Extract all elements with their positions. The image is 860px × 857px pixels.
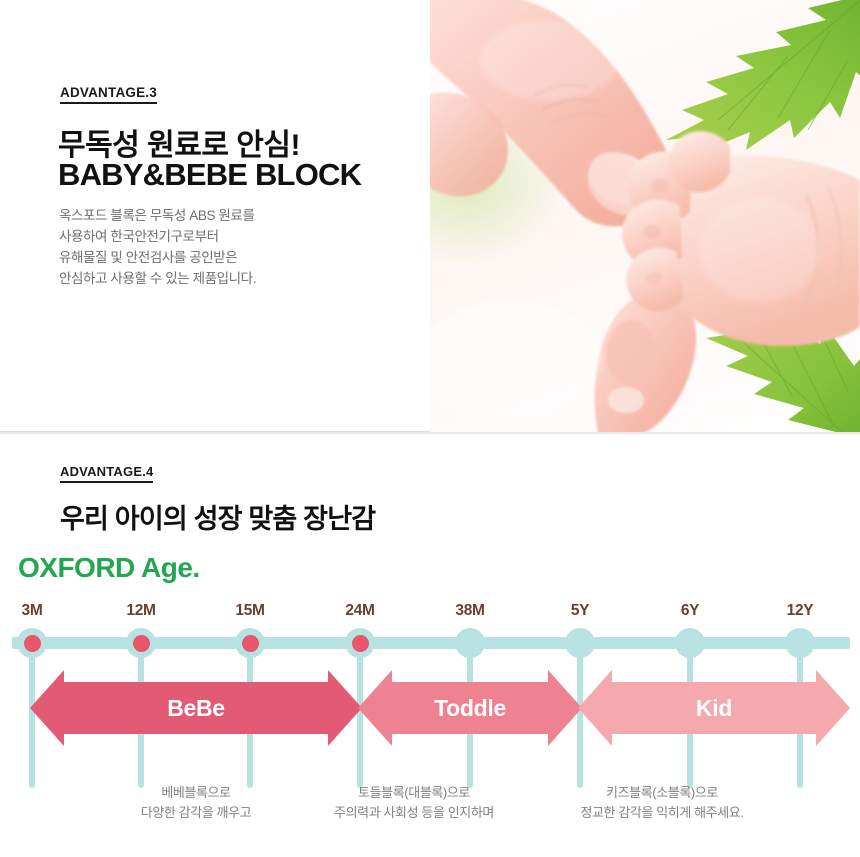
age-timeline: BeBeToddleKid3M12M15M24M38M5Y6Y12Y베베블록으로… <box>0 434 860 857</box>
stage-arrow-label: Toddle <box>358 670 582 746</box>
advantage-3-body-line-2: 사용하여 한국안전기구로부터 <box>59 226 256 247</box>
advantage-3-heading-line2: BABY&BEBE BLOCK <box>58 157 361 193</box>
advantage-3-body: 옥스포드 블록은 무독성 ABS 원료를 사용하여 한국안전기구로부터 유해물질… <box>59 205 256 289</box>
timeline-dot-15m[interactable] <box>235 628 265 658</box>
advantage-3-text-panel: ADVANTAGE.3 무독성 원료로 안심! BABY&BEBE BLOCK … <box>0 0 430 432</box>
advantage-3-body-line-1: 옥스포드 블록은 무독성 ABS 원료를 <box>59 205 256 226</box>
promo-page: ADVANTAGE.3 무독성 원료로 안심! BABY&BEBE BLOCK … <box>0 0 860 857</box>
age-label-3m: 3M <box>22 602 43 620</box>
timeline-dot-6y[interactable] <box>675 628 705 658</box>
stage-arrow-label: BeBe <box>30 670 362 746</box>
stage-arrow-bebe: BeBe <box>30 670 362 746</box>
age-label-24m: 24M <box>345 602 374 620</box>
stage-caption-line: 다양한 감각을 깨우고 <box>141 803 251 823</box>
age-label-15m: 15M <box>235 602 264 620</box>
stage-caption-1: 베베블록으로다양한 감각을 깨우고 <box>141 783 251 823</box>
stage-caption-line: 키즈블록(소블록)으로 <box>580 783 743 803</box>
stage-caption-line: 베베블록으로 <box>141 783 251 803</box>
stage-arrow-label: Kid <box>578 670 850 746</box>
timeline-dot-12y[interactable] <box>785 628 815 658</box>
stage-arrow-kid: Kid <box>578 670 850 746</box>
timeline-dot-3m[interactable] <box>17 628 47 658</box>
age-label-6y: 6Y <box>681 602 699 620</box>
timeline-dot-5y[interactable] <box>565 628 595 658</box>
timeline-dot-24m[interactable] <box>345 628 375 658</box>
advantage-3-section: ADVANTAGE.3 무독성 원료로 안심! BABY&BEBE BLOCK … <box>0 0 860 434</box>
stage-caption-line: 정교한 감각을 익히게 해주세요. <box>580 803 743 823</box>
advantage-3-body-line-3: 유해물질 및 안전검사를 공인받은 <box>59 247 256 268</box>
stage-caption-2: 토들블록(대블록)으로주의력과 사회성 등을 인지하며 <box>334 783 494 823</box>
timeline-dot-12m[interactable] <box>126 628 156 658</box>
age-label-38m: 38M <box>455 602 484 620</box>
stage-caption-3: 키즈블록(소블록)으로정교한 감각을 익히게 해주세요. <box>580 783 743 823</box>
advantage-3-label: ADVANTAGE.3 <box>60 85 157 104</box>
hands-illustration <box>430 0 860 434</box>
age-label-12y: 12Y <box>787 602 814 620</box>
baby-hand-photo <box>430 0 860 434</box>
age-label-5y: 5Y <box>571 602 589 620</box>
age-label-12m: 12M <box>126 602 155 620</box>
stage-caption-line: 주의력과 사회성 등을 인지하며 <box>334 803 494 823</box>
advantage-3-body-line-4: 안심하고 사용할 수 있는 제품입니다. <box>59 268 256 289</box>
timeline-dot-38m[interactable] <box>455 628 485 658</box>
advantage-4-section: ADVANTAGE.4 우리 아이의 성장 맞춤 장난감 OXFORD Age.… <box>0 434 860 857</box>
stage-arrow-toddle: Toddle <box>358 670 582 746</box>
stage-caption-line: 토들블록(대블록)으로 <box>334 783 494 803</box>
